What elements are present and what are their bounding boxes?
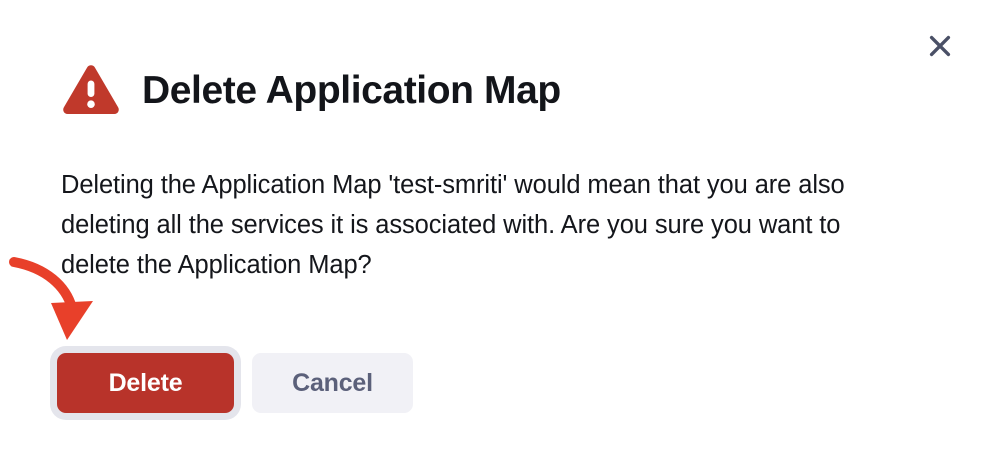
close-dialog-button[interactable] xyxy=(918,24,962,68)
body-line-2: deleting all the services it is associat… xyxy=(61,205,941,245)
warning-triangle-icon xyxy=(62,64,120,116)
dialog-body-text: Deleting the Application Map 'test-smrit… xyxy=(61,165,941,285)
close-icon xyxy=(929,35,951,57)
delete-application-map-dialog: Delete Application Map Deleting the Appl… xyxy=(0,0,984,475)
page-title: Delete Application Map xyxy=(142,71,561,110)
cancel-button[interactable]: Cancel xyxy=(252,353,413,413)
dialog-actions: Delete Cancel xyxy=(57,353,413,413)
body-line-3: delete the Application Map? xyxy=(61,245,941,285)
body-line-1: Deleting the Application Map 'test-smrit… xyxy=(61,165,941,205)
delete-button[interactable]: Delete xyxy=(57,353,234,413)
dialog-header: Delete Application Map xyxy=(62,64,561,116)
